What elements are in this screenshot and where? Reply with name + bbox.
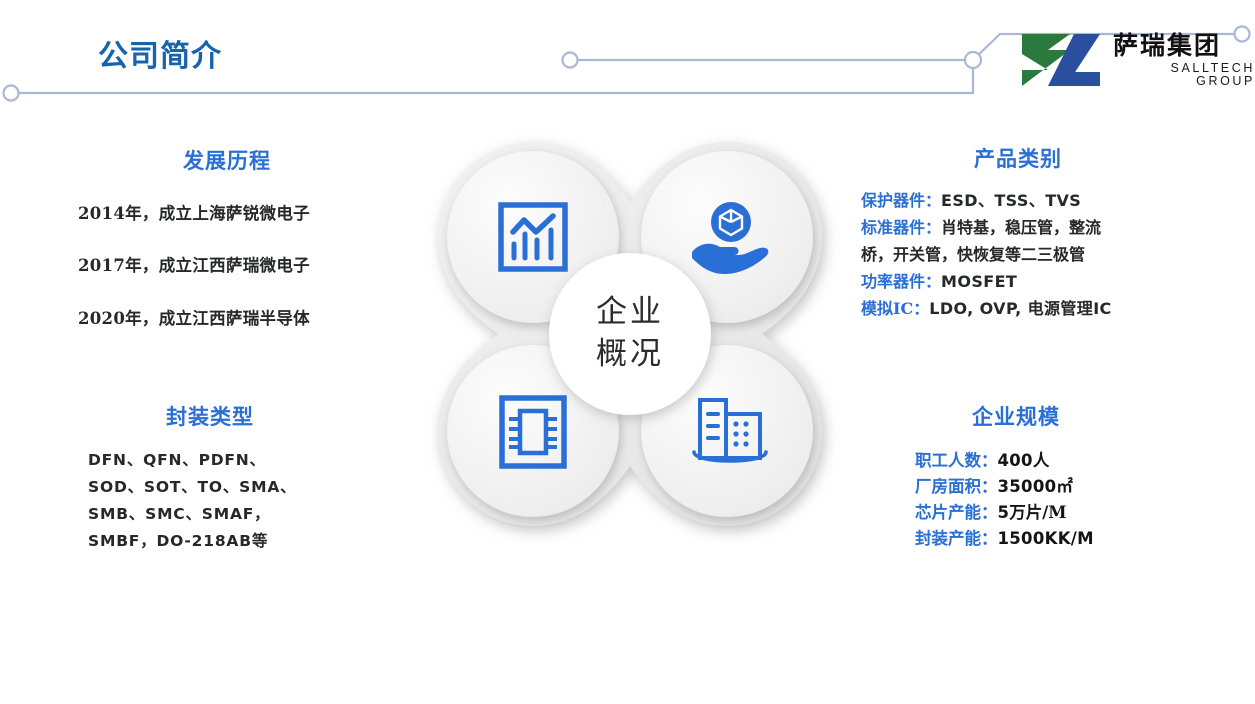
package-line: SOD、SOT、TO、SMA、: [88, 475, 296, 497]
scale-row: 封装产能：1500KK/M: [915, 525, 1094, 549]
scale-value: 1500KK/M: [998, 529, 1094, 548]
product-label: 功率器件：: [861, 272, 941, 291]
scale-label: 厂房面积：: [915, 477, 998, 496]
package-line: SMBF，DO-218AB等: [88, 529, 268, 551]
company-logo: 萨瑞集团 SALLTECH GROUP: [1018, 32, 1255, 88]
scale-unit: 人: [1033, 451, 1050, 470]
scale-label: 职工人数：: [915, 451, 998, 470]
section-heading-products: 产品类别: [974, 143, 1062, 173]
section-heading-scale: 企业规模: [972, 401, 1060, 431]
product-label: 模拟IC：: [861, 299, 929, 318]
product-value: ESD、TSS、TVS: [941, 191, 1081, 210]
scale-value: 5: [998, 503, 1010, 522]
page-title: 公司简介: [98, 31, 222, 75]
scale-value: 400: [998, 451, 1033, 470]
history-item: 2017年，成立江西萨瑞微电子: [78, 252, 310, 276]
center-circle: [549, 253, 711, 415]
section-heading-history: 发展历程: [183, 145, 271, 175]
history-item: 2014年，成立上海萨锐微电子: [78, 200, 310, 224]
scale-label: 封装产能：: [915, 529, 998, 548]
product-value: LDO, OVP, 电源管理IC: [929, 299, 1111, 318]
salltech-logo-mark: [1018, 32, 1104, 88]
section-heading-package: 封装类型: [166, 401, 254, 431]
product-row: 标准器件：肖特基，稳压管，整流: [861, 219, 1101, 238]
package-line: DFN、QFN、PDFN、: [88, 448, 266, 470]
product-value: 肖特基，稳压管，整流: [941, 218, 1101, 237]
slide-canvas: 公司简介 萨瑞集团 SALLTECH GROUP 发展历程 2014年，成立上海…: [0, 0, 1255, 704]
enterprise-overview-diagram: [418, 122, 842, 546]
product-value: MOSFET: [941, 272, 1017, 291]
product-label: 保护器件：: [861, 191, 941, 210]
logo-name-en: SALLTECH GROUP: [1113, 62, 1255, 87]
scale-row: 厂房面积：35000㎡: [915, 473, 1073, 497]
product-row: 模拟IC：LDO, OVP, 电源管理IC: [861, 300, 1112, 319]
logo-text: 萨瑞集团 SALLTECH GROUP: [1113, 33, 1255, 87]
scale-row: 职工人数：400人: [915, 447, 1049, 471]
product-value: 桥，开关管，快恢复等二三极管: [861, 245, 1085, 264]
product-label: 标准器件：: [861, 218, 941, 237]
package-line: SMB、SMC、SMAF，: [88, 502, 270, 524]
scale-unit: ㎡: [1056, 477, 1073, 496]
history-item: 2020年，成立江西萨瑞半导体: [78, 305, 310, 329]
logo-name-cn: 萨瑞集团: [1113, 33, 1255, 58]
scale-value: 35000: [998, 477, 1057, 496]
product-row: 保护器件：ESD、TSS、TVS: [861, 192, 1081, 211]
scale-unit: 万片/M: [1009, 503, 1066, 522]
scale-label: 芯片产能：: [915, 503, 998, 522]
scale-row: 芯片产能：5万片/M: [915, 499, 1067, 523]
product-row: 桥，开关管，快恢复等二三极管: [861, 246, 1085, 265]
product-row: 功率器件：MOSFET: [861, 273, 1017, 292]
